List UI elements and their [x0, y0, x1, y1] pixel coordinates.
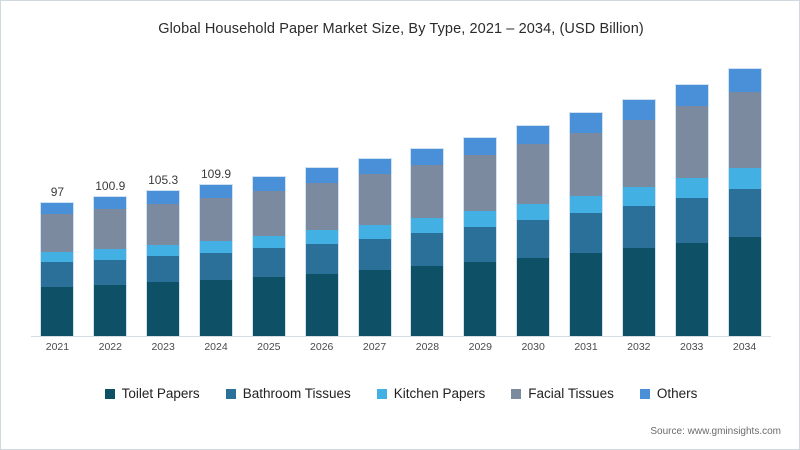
bar-segment-others[interactable]: [94, 197, 126, 209]
bar-segment-others[interactable]: [623, 100, 655, 120]
x-axis-line: [31, 336, 771, 337]
stacked-bar[interactable]: [306, 168, 338, 336]
x-tick-2029: 2029: [469, 341, 492, 353]
x-tick-2023: 2023: [151, 341, 174, 353]
bar-segment-facial-tissues[interactable]: [147, 204, 179, 245]
stacked-bar[interactable]: [517, 126, 549, 336]
x-tick-2024: 2024: [204, 341, 227, 353]
bar-segment-toilet-papers[interactable]: [94, 285, 126, 336]
legend-label: Facial Tissues: [528, 386, 614, 401]
bar-segment-toilet-papers[interactable]: [253, 277, 285, 336]
legend-label: Others: [657, 386, 698, 401]
stacked-bar[interactable]: [359, 159, 391, 336]
legend-item-kitchen-papers[interactable]: Kitchen Papers: [377, 386, 486, 401]
bar-segment-toilet-papers[interactable]: [147, 282, 179, 336]
bar-group[interactable]: 109.9: [190, 61, 243, 336]
bar-segment-kitchen-papers[interactable]: [623, 187, 655, 206]
legend-item-others[interactable]: Others: [640, 386, 698, 401]
stacked-bar[interactable]: 97: [41, 203, 73, 336]
bar-segment-facial-tissues[interactable]: [411, 165, 443, 218]
x-tick-2032: 2032: [627, 341, 650, 353]
bar-group[interactable]: 97: [31, 61, 84, 336]
bar-segment-bathroom-tissues[interactable]: [147, 256, 179, 282]
stacked-bar[interactable]: [676, 85, 708, 336]
x-tick-2034: 2034: [733, 341, 756, 353]
bar-segment-toilet-papers[interactable]: [411, 266, 443, 336]
bar-segment-facial-tissues[interactable]: [464, 155, 496, 211]
legend-label: Kitchen Papers: [394, 386, 486, 401]
bar-segment-toilet-papers[interactable]: [200, 280, 232, 336]
bar-segment-kitchen-papers[interactable]: [200, 241, 232, 253]
bar-segment-others[interactable]: [517, 126, 549, 144]
legend-swatch-icon: [105, 389, 115, 399]
bar-segment-others[interactable]: [306, 168, 338, 183]
bar-segment-facial-tissues[interactable]: [41, 214, 73, 252]
bar-segment-toilet-papers[interactable]: [41, 287, 73, 337]
x-tick-2030: 2030: [521, 341, 544, 353]
legend-label: Bathroom Tissues: [243, 386, 351, 401]
bar-segment-facial-tissues[interactable]: [306, 183, 338, 230]
stacked-bar[interactable]: [570, 113, 602, 336]
bar-group[interactable]: 100.9: [84, 61, 137, 336]
stacked-bar[interactable]: [253, 177, 285, 336]
bar-segment-bathroom-tissues[interactable]: [253, 248, 285, 277]
bar-segment-others[interactable]: [253, 177, 285, 191]
bar-segment-kitchen-papers[interactable]: [411, 218, 443, 233]
stacked-bar[interactable]: 100.9: [94, 197, 126, 336]
x-tick-2027: 2027: [363, 341, 386, 353]
x-tick-2026: 2026: [310, 341, 333, 353]
bar-segment-kitchen-papers[interactable]: [359, 225, 391, 239]
bar-group[interactable]: [560, 61, 613, 336]
legend-item-toilet-papers[interactable]: Toilet Papers: [105, 386, 200, 401]
bar-segment-others[interactable]: [147, 191, 179, 204]
bar-segment-bathroom-tissues[interactable]: [464, 227, 496, 262]
legend-item-facial-tissues[interactable]: Facial Tissues: [511, 386, 614, 401]
bar-segment-facial-tissues[interactable]: [94, 209, 126, 248]
x-tick-2031: 2031: [574, 341, 597, 353]
bar-segment-others[interactable]: [41, 203, 73, 215]
chart-title: Global Household Paper Market Size, By T…: [1, 21, 800, 37]
bar-value-label: 97: [51, 185, 64, 199]
bar-segment-toilet-papers[interactable]: [676, 243, 708, 336]
bar-segment-others[interactable]: [729, 69, 761, 92]
stacked-bar[interactable]: [623, 100, 655, 337]
bar-segment-kitchen-papers[interactable]: [676, 178, 708, 198]
bar-segment-toilet-papers[interactable]: [359, 270, 391, 336]
bar-segment-bathroom-tissues[interactable]: [41, 262, 73, 286]
bar-segment-toilet-papers[interactable]: [306, 274, 338, 336]
stacked-bar[interactable]: 105.3: [147, 191, 179, 336]
bar-segment-others[interactable]: [570, 113, 602, 132]
legend-swatch-icon: [377, 389, 387, 399]
bar-segment-facial-tissues[interactable]: [253, 191, 285, 236]
bar-group[interactable]: [507, 61, 560, 336]
x-tick-2022: 2022: [99, 341, 122, 353]
bar-segment-others[interactable]: [200, 185, 232, 198]
legend-swatch-icon: [511, 389, 521, 399]
bar-group[interactable]: [242, 61, 295, 336]
bar-value-label: 100.9: [95, 179, 125, 193]
bar-segment-kitchen-papers[interactable]: [464, 211, 496, 227]
bar-segment-others[interactable]: [359, 159, 391, 174]
bar-segment-kitchen-papers[interactable]: [570, 196, 602, 214]
stacked-bar[interactable]: [464, 138, 496, 336]
bar-segment-others[interactable]: [676, 85, 708, 107]
bar-group[interactable]: [718, 61, 771, 336]
bar-segment-bathroom-tissues[interactable]: [729, 189, 761, 237]
bar-segment-facial-tissues[interactable]: [623, 120, 655, 187]
x-tick-2033: 2033: [680, 341, 703, 353]
chart-legend: Toilet PapersBathroom TissuesKitchen Pap…: [1, 386, 800, 401]
bar-segment-bathroom-tissues[interactable]: [94, 260, 126, 285]
bar-segment-facial-tissues[interactable]: [200, 198, 232, 241]
legend-swatch-icon: [640, 389, 650, 399]
x-tick-2025: 2025: [257, 341, 280, 353]
bar-segment-bathroom-tissues[interactable]: [411, 233, 443, 267]
bar-group[interactable]: [295, 61, 348, 336]
bar-value-label: 105.3: [148, 173, 178, 187]
x-tick-2021: 2021: [46, 341, 69, 353]
x-tick-2028: 2028: [416, 341, 439, 353]
bar-group[interactable]: [348, 61, 401, 336]
stacked-bar[interactable]: 109.9: [200, 185, 232, 336]
bar-segment-kitchen-papers[interactable]: [41, 252, 73, 262]
bar-segment-others[interactable]: [411, 149, 443, 165]
plot-area: 97100.9105.3109.9: [31, 61, 771, 336]
bar-segment-toilet-papers[interactable]: [517, 258, 549, 336]
bar-group[interactable]: [612, 61, 665, 336]
bar-segment-toilet-papers[interactable]: [464, 262, 496, 336]
bar-segment-kitchen-papers[interactable]: [306, 230, 338, 243]
bar-segment-kitchen-papers[interactable]: [147, 245, 179, 256]
bar-group[interactable]: [454, 61, 507, 336]
bar-value-label: 109.9: [201, 167, 231, 181]
bar-segment-facial-tissues[interactable]: [517, 144, 549, 203]
source-attribution: Source: www.gminsights.com: [650, 426, 781, 437]
bar-segment-facial-tissues[interactable]: [729, 92, 761, 168]
bar-segment-kitchen-papers[interactable]: [253, 236, 285, 249]
legend-item-bathroom-tissues[interactable]: Bathroom Tissues: [226, 386, 351, 401]
bar-segment-bathroom-tissues[interactable]: [623, 206, 655, 248]
bar-segment-kitchen-papers[interactable]: [729, 168, 761, 189]
chart-container: Global Household Paper Market Size, By T…: [0, 0, 800, 450]
bar-segment-toilet-papers[interactable]: [570, 253, 602, 336]
bar-segment-facial-tissues[interactable]: [676, 106, 708, 177]
x-axis-tick-labels: 2021202220232024202520262027202820292030…: [31, 341, 771, 359]
bar-group[interactable]: [665, 61, 718, 336]
bar-group[interactable]: 105.3: [137, 61, 190, 336]
stacked-bar[interactable]: [729, 69, 761, 336]
bar-segment-bathroom-tissues[interactable]: [359, 239, 391, 271]
bar-segment-bathroom-tissues[interactable]: [676, 198, 708, 243]
bar-segment-facial-tissues[interactable]: [570, 133, 602, 196]
bar-segment-bathroom-tissues[interactable]: [570, 213, 602, 253]
bar-segment-bathroom-tissues[interactable]: [306, 244, 338, 274]
legend-swatch-icon: [226, 389, 236, 399]
bar-group[interactable]: [401, 61, 454, 336]
bar-segment-bathroom-tissues[interactable]: [517, 220, 549, 258]
legend-label: Toilet Papers: [122, 386, 200, 401]
bar-segment-toilet-papers[interactable]: [623, 248, 655, 336]
bar-segment-toilet-papers[interactable]: [729, 237, 761, 336]
stacked-bar[interactable]: [411, 149, 443, 336]
bar-segment-others[interactable]: [464, 138, 496, 155]
bar-segment-kitchen-papers[interactable]: [517, 204, 549, 221]
bar-segment-bathroom-tissues[interactable]: [200, 253, 232, 280]
bar-segment-facial-tissues[interactable]: [359, 174, 391, 224]
bar-segment-kitchen-papers[interactable]: [94, 249, 126, 260]
